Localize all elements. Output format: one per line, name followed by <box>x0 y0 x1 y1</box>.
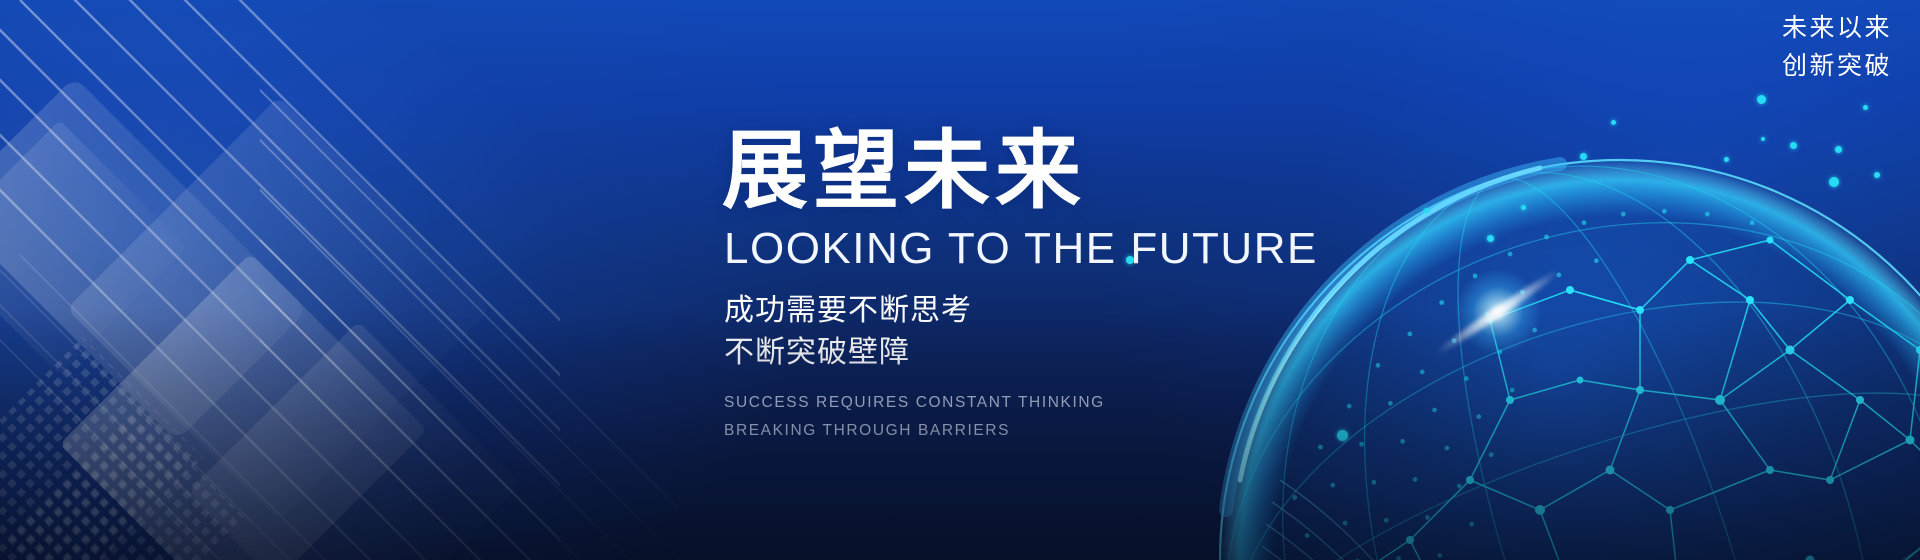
bottom-vignette <box>0 0 1920 560</box>
banner-root: 展望未来 LOOKING TO THE FUTURE 成功需要不断思考 不断突破… <box>0 0 1920 560</box>
